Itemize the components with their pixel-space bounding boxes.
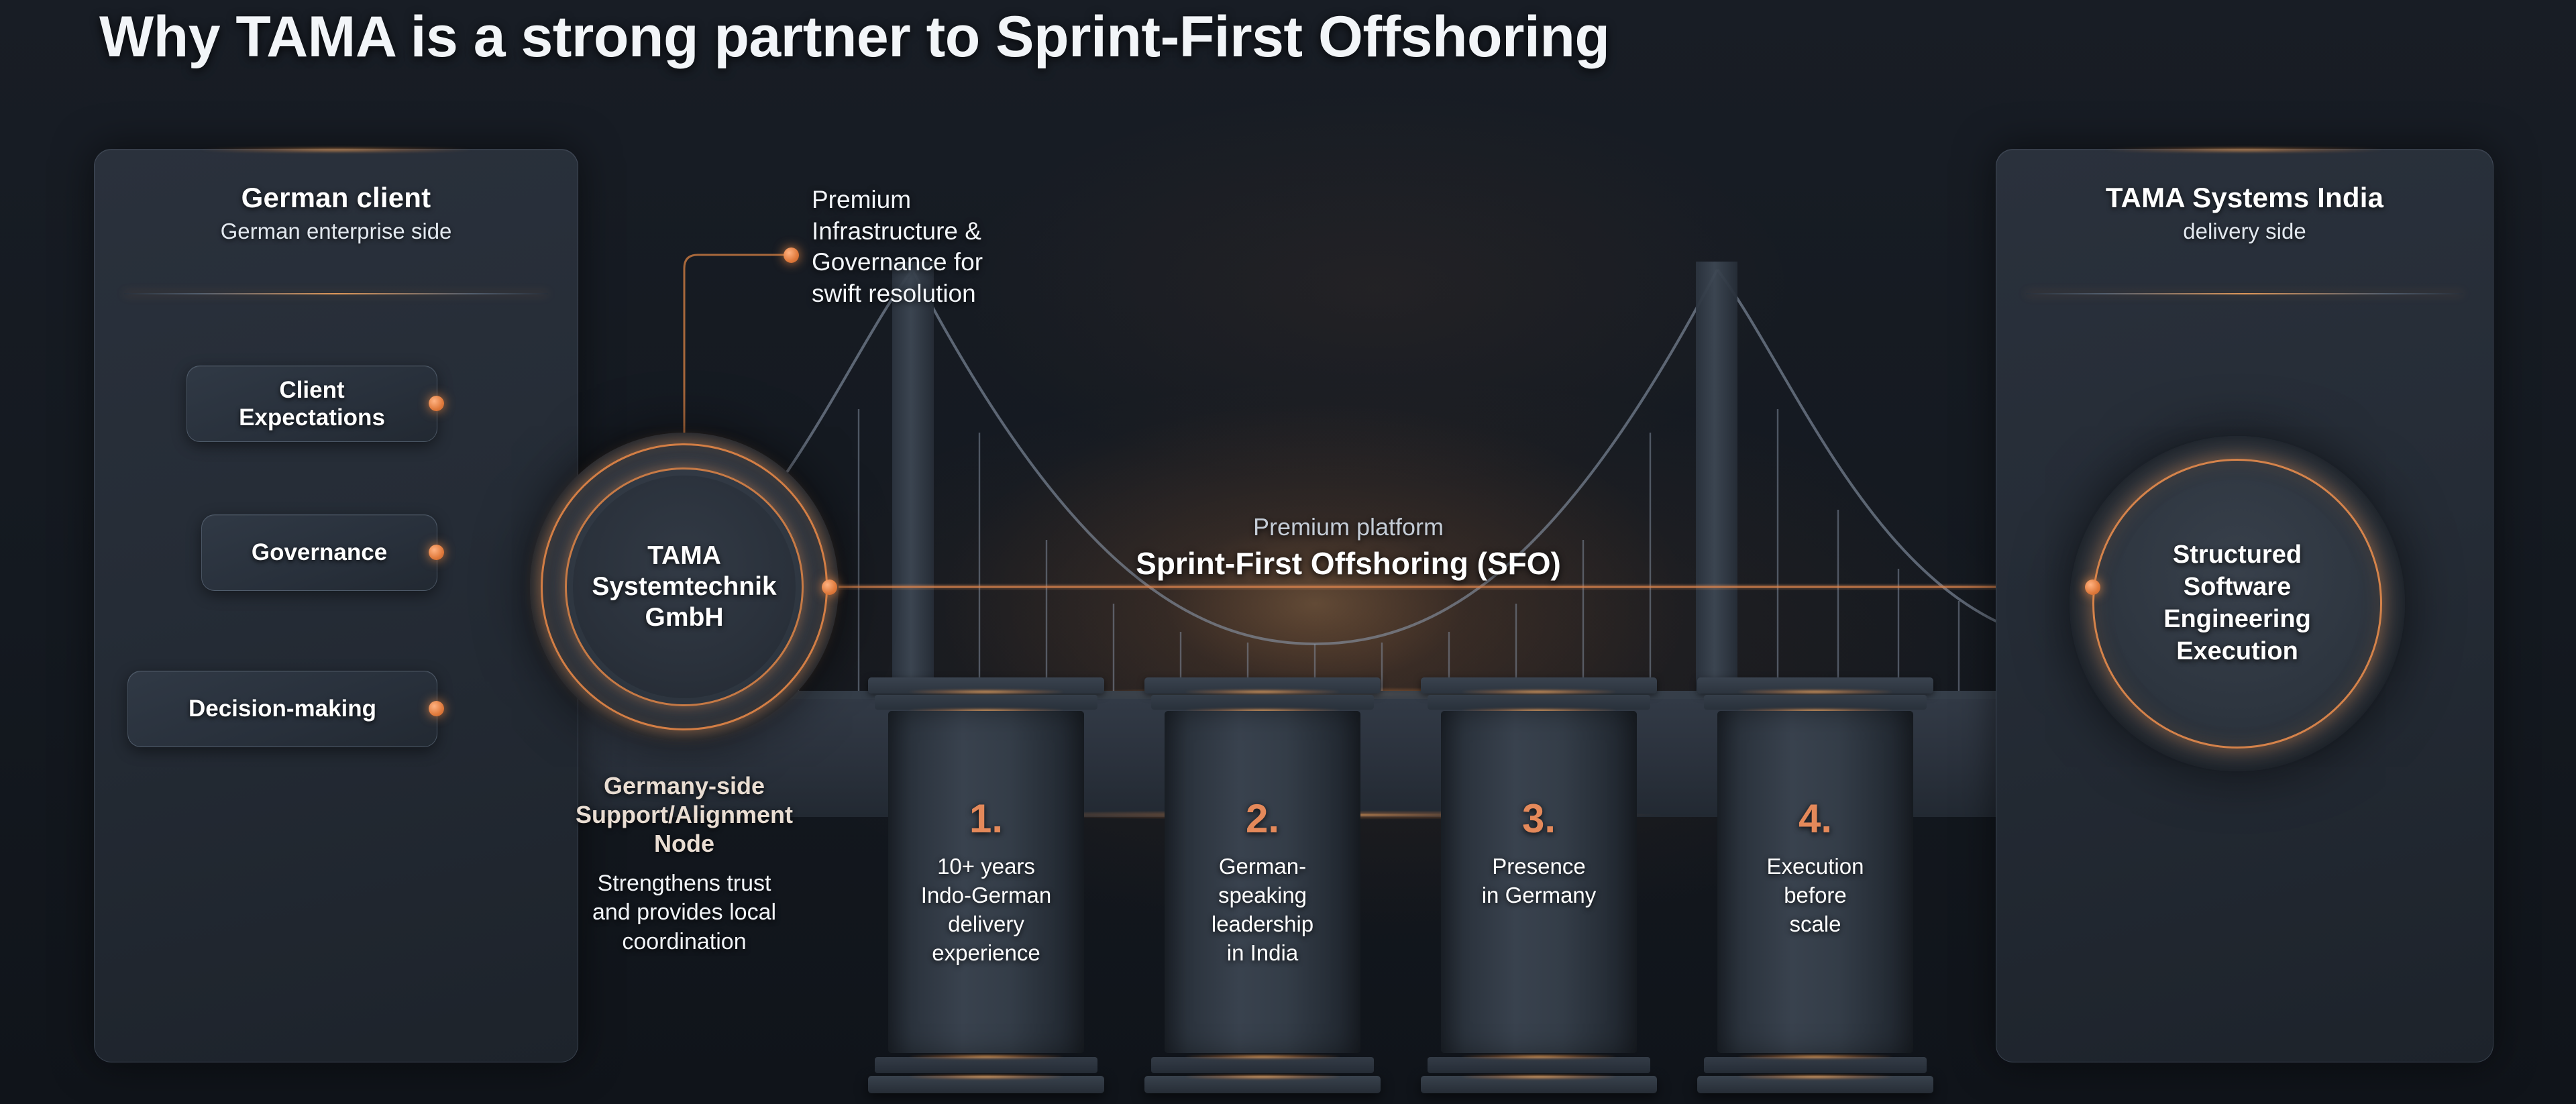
india-node-inner-disc: StructuredSoftwareEngineeringExecution [2095, 461, 2379, 746]
pillar-capital-band [1428, 695, 1650, 710]
left-panel-title: German client [95, 182, 578, 214]
right-panel-header: TAMA Systems India delivery side [1996, 182, 2493, 244]
tama-node-label: TAMASystemtechnikGmbH [592, 541, 776, 633]
pillar-base-glow-upper [1185, 1054, 1340, 1059]
connector-dot-india-node [2085, 579, 2100, 595]
pillar-capital-glow [1185, 689, 1340, 694]
left-panel-subtitle: German enterprise side [95, 219, 578, 244]
pillar-2[interactable]: 2. German-speakingleadershipin India [1155, 677, 1370, 1104]
connector-dot-callout [784, 247, 799, 263]
panel-top-glow [201, 148, 471, 152]
tama-caption-title: Germany-sideSupport/AlignmentNode [503, 771, 865, 859]
pill-label: ClientExpectations [227, 376, 397, 432]
structured-engineering-node[interactable]: StructuredSoftwareEngineeringExecution [2070, 436, 2405, 771]
pillar-base-glow-upper [1738, 1054, 1892, 1059]
pillar-base-band [875, 1057, 1097, 1073]
right-panel-title: TAMA Systems India [1996, 182, 2493, 214]
pillar-content: 4. Executionbeforescale [1708, 795, 1923, 939]
pill-decision-making[interactable]: Decision-making [127, 671, 437, 747]
left-panel-header: German client German enterprise side [95, 182, 578, 244]
pillar-capital-band [1151, 695, 1374, 710]
pillar-capital-band [875, 695, 1097, 710]
pill-governance[interactable]: Governance [201, 514, 437, 591]
bridge-label-main: Sprint-First Offshoring (SFO) [1046, 545, 1650, 582]
tama-systemtechnik-node[interactable]: TAMASystemtechnikGmbH [530, 433, 839, 741]
pillar-base-glow-lower [1185, 1074, 1340, 1079]
right-panel-subtitle: delivery side [1996, 219, 2493, 244]
pillar-text: Presencein Germany [1432, 852, 1646, 910]
pillar-base-glow-lower [909, 1074, 1063, 1079]
pillar-base-band [1428, 1057, 1650, 1073]
pillar-text: Executionbeforescale [1708, 852, 1923, 939]
pillar-capital-band [1704, 695, 1927, 710]
pillar-content: 2. German-speakingleadershipin India [1155, 795, 1370, 968]
bridge-platform-label: Premium platform Sprint-First Offshoring… [1046, 513, 1650, 582]
pill-client-expectations[interactable]: ClientExpectations [186, 366, 437, 442]
pill-label: Decision-making [176, 695, 388, 722]
pillar-base-glow-lower [1738, 1074, 1892, 1079]
callout-premium-infrastructure: PremiumInfrastructure &Governance forswi… [812, 184, 1093, 309]
pillar-number: 4. [1708, 795, 1923, 842]
pillar-number: 3. [1432, 795, 1646, 842]
pillar-capital-glow [909, 689, 1063, 694]
pillar-number: 1. [879, 795, 1093, 842]
pillar-text: 10+ yearsIndo-Germandeliveryexperience [879, 852, 1093, 968]
pillar-base-band [1704, 1057, 1927, 1073]
tama-node-inner-disc: TAMASystemtechnikGmbH [573, 476, 796, 698]
pillar-content: 3. Presencein Germany [1432, 795, 1646, 910]
pillar-number: 2. [1155, 795, 1370, 842]
pillar-base-band [1151, 1057, 1374, 1073]
pill-label: Governance [239, 539, 399, 566]
connector-dot-decision-making [429, 701, 444, 716]
pillar-text: German-speakingleadershipin India [1155, 852, 1370, 968]
pillar-content: 1. 10+ yearsIndo-Germandeliveryexperienc… [879, 795, 1093, 968]
tama-caption-body: Strengthens trustand provides localcoord… [503, 869, 865, 957]
pillar-4[interactable]: 4. Executionbeforescale [1708, 677, 1923, 1104]
connector-dot-tama-node [822, 579, 837, 595]
panel-top-glow [2106, 148, 2383, 152]
pillar-capital-glow [1738, 689, 1892, 694]
pillar-1[interactable]: 1. 10+ yearsIndo-Germandeliveryexperienc… [879, 677, 1093, 1104]
bridge-label-sub: Premium platform [1046, 513, 1650, 541]
callout-text: PremiumInfrastructure &Governance forswi… [812, 184, 1093, 309]
pillar-capital-glow [1462, 689, 1616, 694]
tama-node-caption: Germany-sideSupport/AlignmentNode Streng… [503, 771, 865, 956]
connector-dot-governance [429, 545, 444, 560]
pillar-base-glow-lower [1462, 1074, 1616, 1079]
pillar-base-glow-upper [1462, 1054, 1616, 1059]
connector-dot-client-expectations [429, 396, 444, 411]
india-node-label: StructuredSoftwareEngineeringExecution [2163, 539, 2311, 668]
left-panel-divider [124, 293, 548, 294]
right-panel-divider [2026, 293, 2463, 294]
pillar-3[interactable]: 3. Presencein Germany [1432, 677, 1646, 1104]
pillar-base-glow-upper [909, 1054, 1063, 1059]
